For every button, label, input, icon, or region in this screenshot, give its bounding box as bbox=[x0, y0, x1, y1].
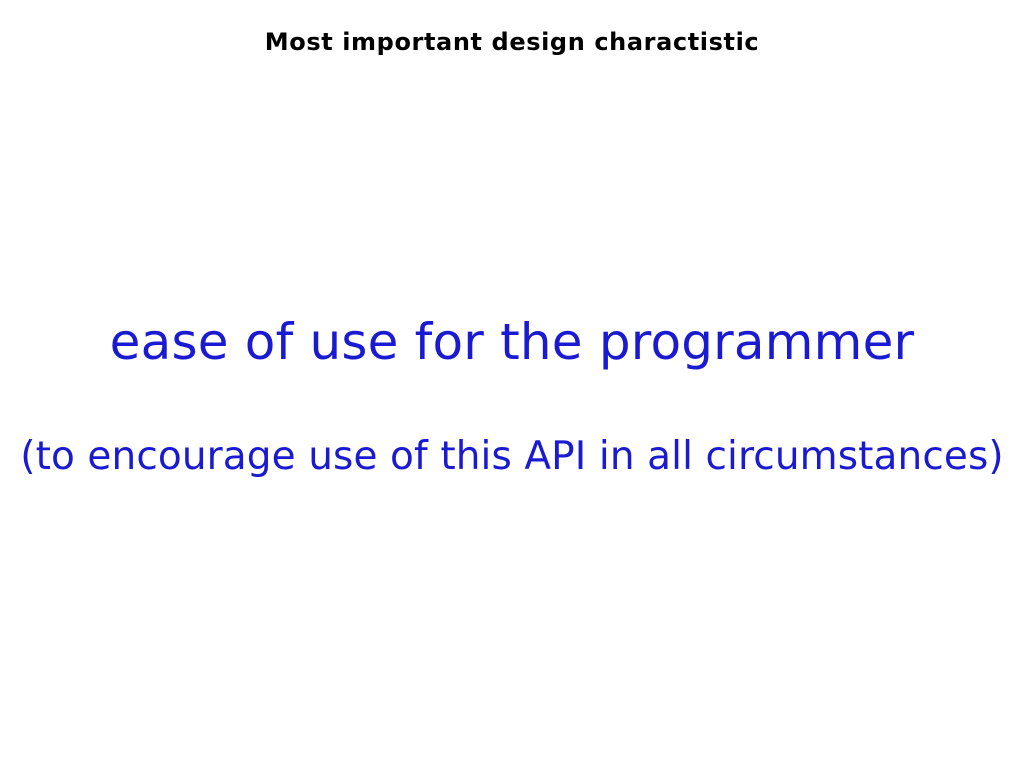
body-spacer bbox=[0, 374, 1024, 432]
headline-text: ease of use for the programmer bbox=[0, 310, 1024, 374]
subline-text: (to encourage use of this API in all cir… bbox=[0, 432, 1024, 482]
slide-body: ease of use for the programmer (to encou… bbox=[0, 310, 1024, 482]
slide-title: Most important design charactistic bbox=[0, 27, 1024, 57]
slide-canvas: Most important design charactistic ease … bbox=[0, 0, 1024, 768]
